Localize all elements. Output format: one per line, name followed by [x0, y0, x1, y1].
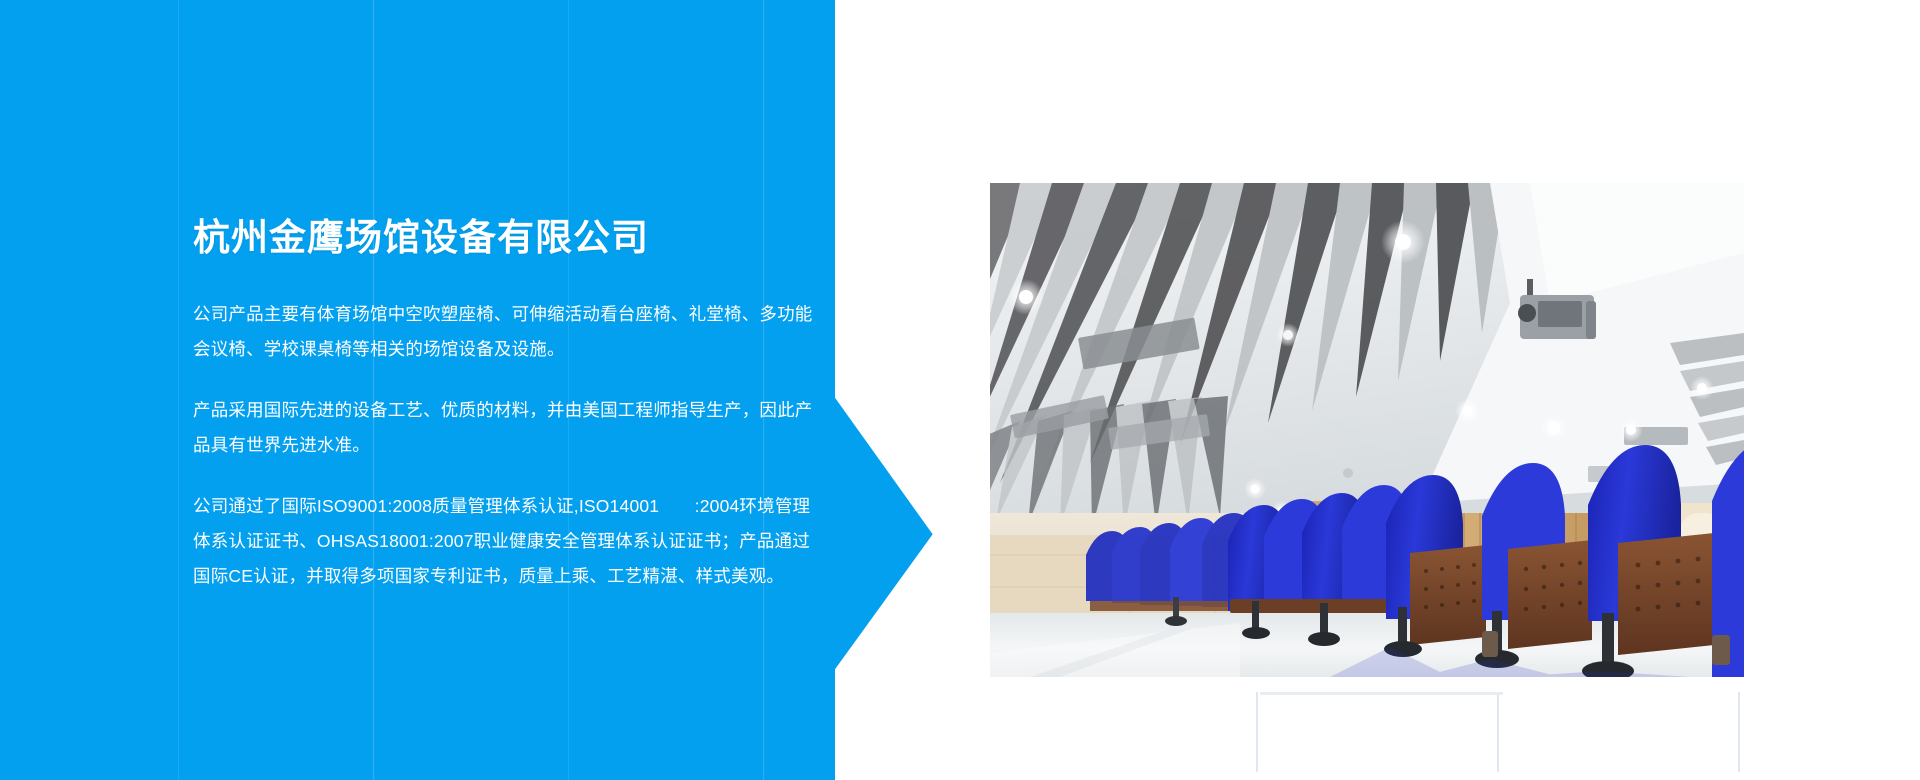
intro-paragraph-quality: 产品采用国际先进的设备工艺、优质的材料，并由美国工程师指导生产，因此产品具有世界… [193, 393, 813, 463]
page-title: 杭州金鹰场馆设备有限公司 [193, 215, 813, 261]
intro-paragraph-products: 公司产品主要有体育场馆中空吹塑座椅、可伸缩活动看台座椅、礼堂椅、多功能会议椅、学… [193, 297, 813, 367]
intro-text-column: 杭州金鹰场馆设备有限公司 公司产品主要有体育场馆中空吹塑座椅、可伸缩活动看台座椅… [193, 215, 813, 594]
auditorium-seating-photo [990, 183, 1744, 677]
banner-stage: 杭州金鹰场馆设备有限公司 公司产品主要有体育场馆中空吹塑座椅、可伸缩活动看台座椅… [0, 0, 1920, 780]
auditorium-illustration [990, 183, 1744, 677]
intro-paragraph-certifications: 公司通过了国际ISO9001:2008质量管理体系认证,ISO14001 :20… [193, 489, 813, 594]
